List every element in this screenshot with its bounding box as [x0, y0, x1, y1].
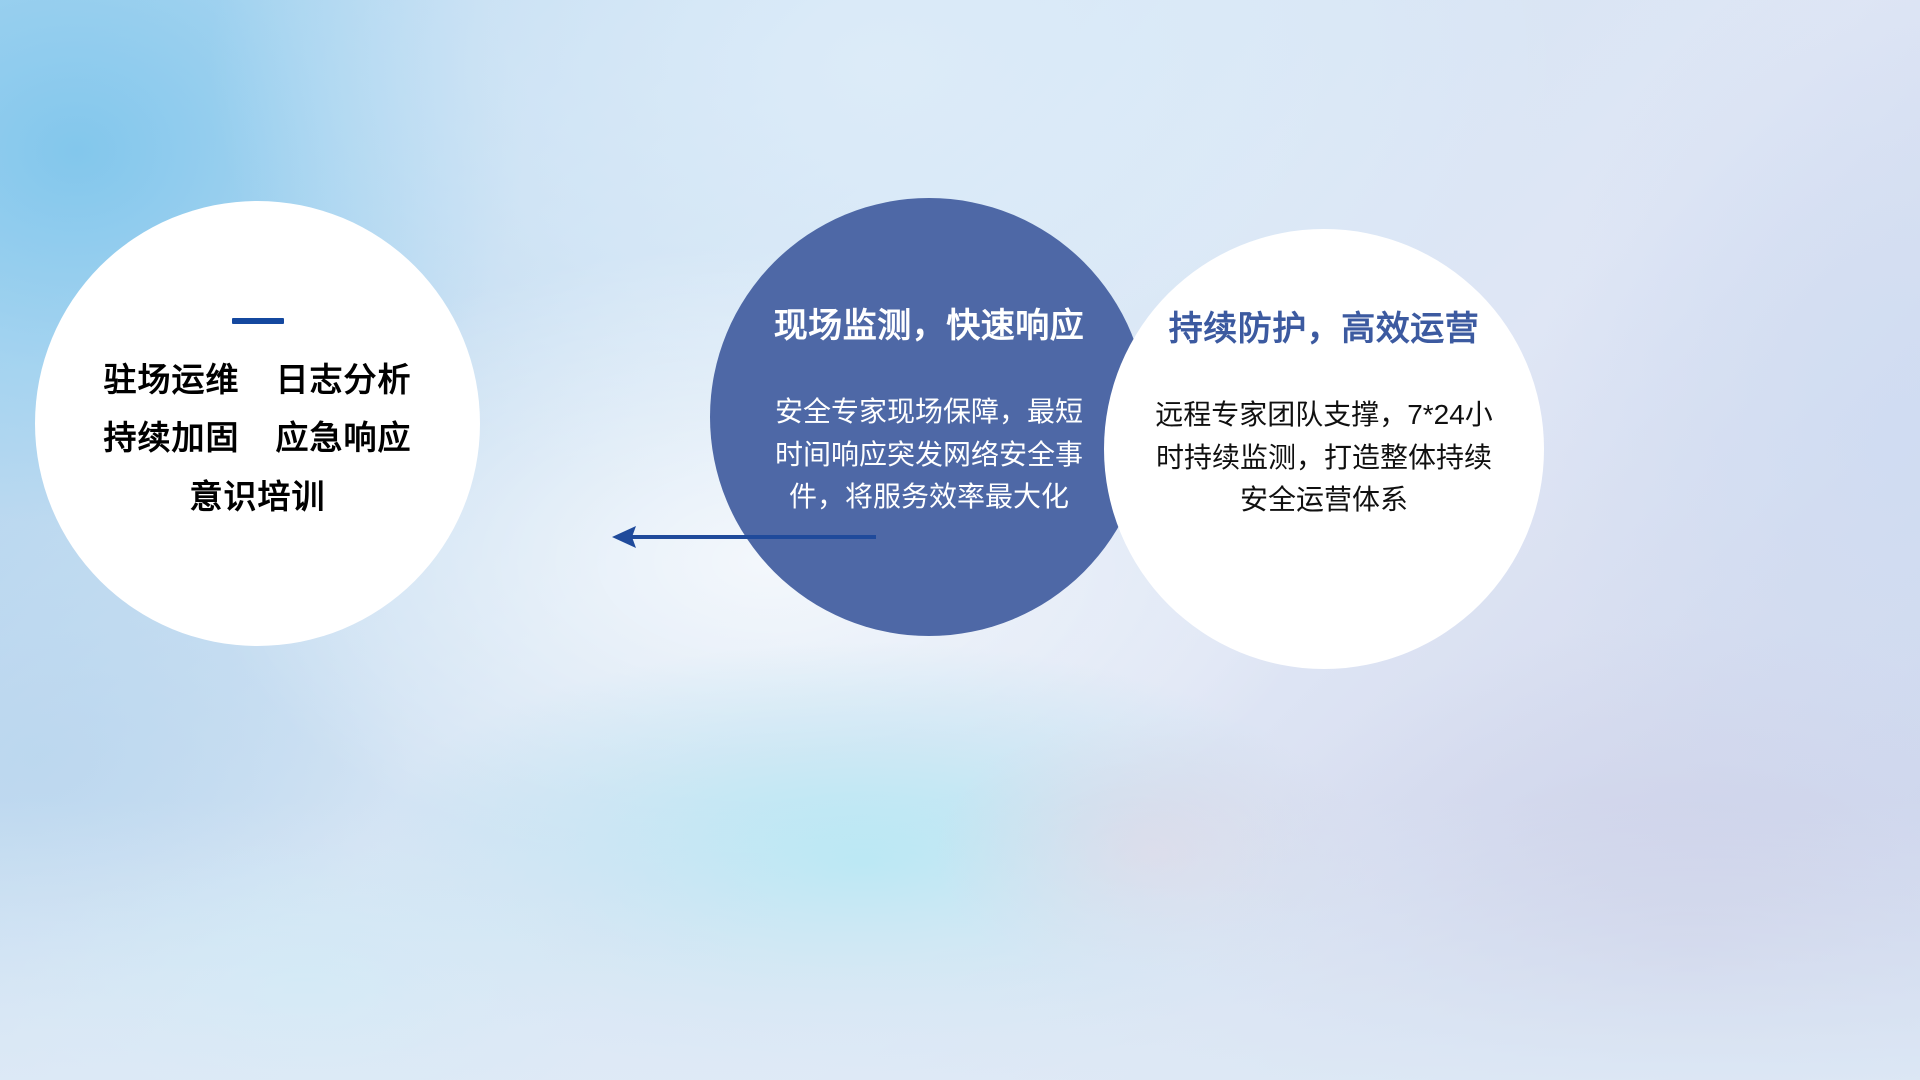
- service-tag-row: 意识培训: [190, 479, 326, 515]
- onsite-heading: 现场监测，快速响应: [774, 298, 1085, 347]
- slide-canvas: 驻场运维 日志分析 持续加固 应急响应 意识培训 现场监测，快速响应 安全专家现…: [0, 0, 1920, 1080]
- circle-service-capabilities[interactable]: 驻场运维 日志分析 持续加固 应急响应 意识培训: [35, 201, 480, 646]
- service-tag[interactable]: 持续加固: [104, 420, 240, 456]
- circle-onsite-monitoring[interactable]: 现场监测，快速响应 安全专家现场保障，最短时间响应突发网络安全事件，将服务效率最…: [710, 198, 1148, 636]
- service-tag-row: 驻场运维 日志分析: [104, 362, 412, 398]
- blue-divider-dash: [232, 318, 284, 324]
- arrow-left-icon: [608, 515, 878, 559]
- service-tag[interactable]: 应急响应: [276, 420, 412, 456]
- service-tag-row: 持续加固 应急响应: [104, 420, 412, 456]
- continuous-body-text: 远程专家团队支撑，7*24小时持续监测，打造整体持续安全运营体系: [1154, 394, 1494, 522]
- service-tag-list: 驻场运维 日志分析 持续加固 应急响应 意识培训: [104, 362, 412, 515]
- circle-continuous-protection[interactable]: 持续防护，高效运营 远程专家团队支撑，7*24小时持续监测，打造整体持续安全运营…: [1104, 229, 1544, 669]
- onsite-body-text: 安全专家现场保障，最短时间响应突发网络安全事件，将服务效率最大化: [770, 391, 1088, 519]
- continuous-heading: 持续防护，高效运营: [1169, 301, 1480, 350]
- service-tag[interactable]: 意识培训: [190, 479, 326, 515]
- service-tag[interactable]: 日志分析: [276, 362, 412, 398]
- service-tag[interactable]: 驻场运维: [104, 362, 240, 398]
